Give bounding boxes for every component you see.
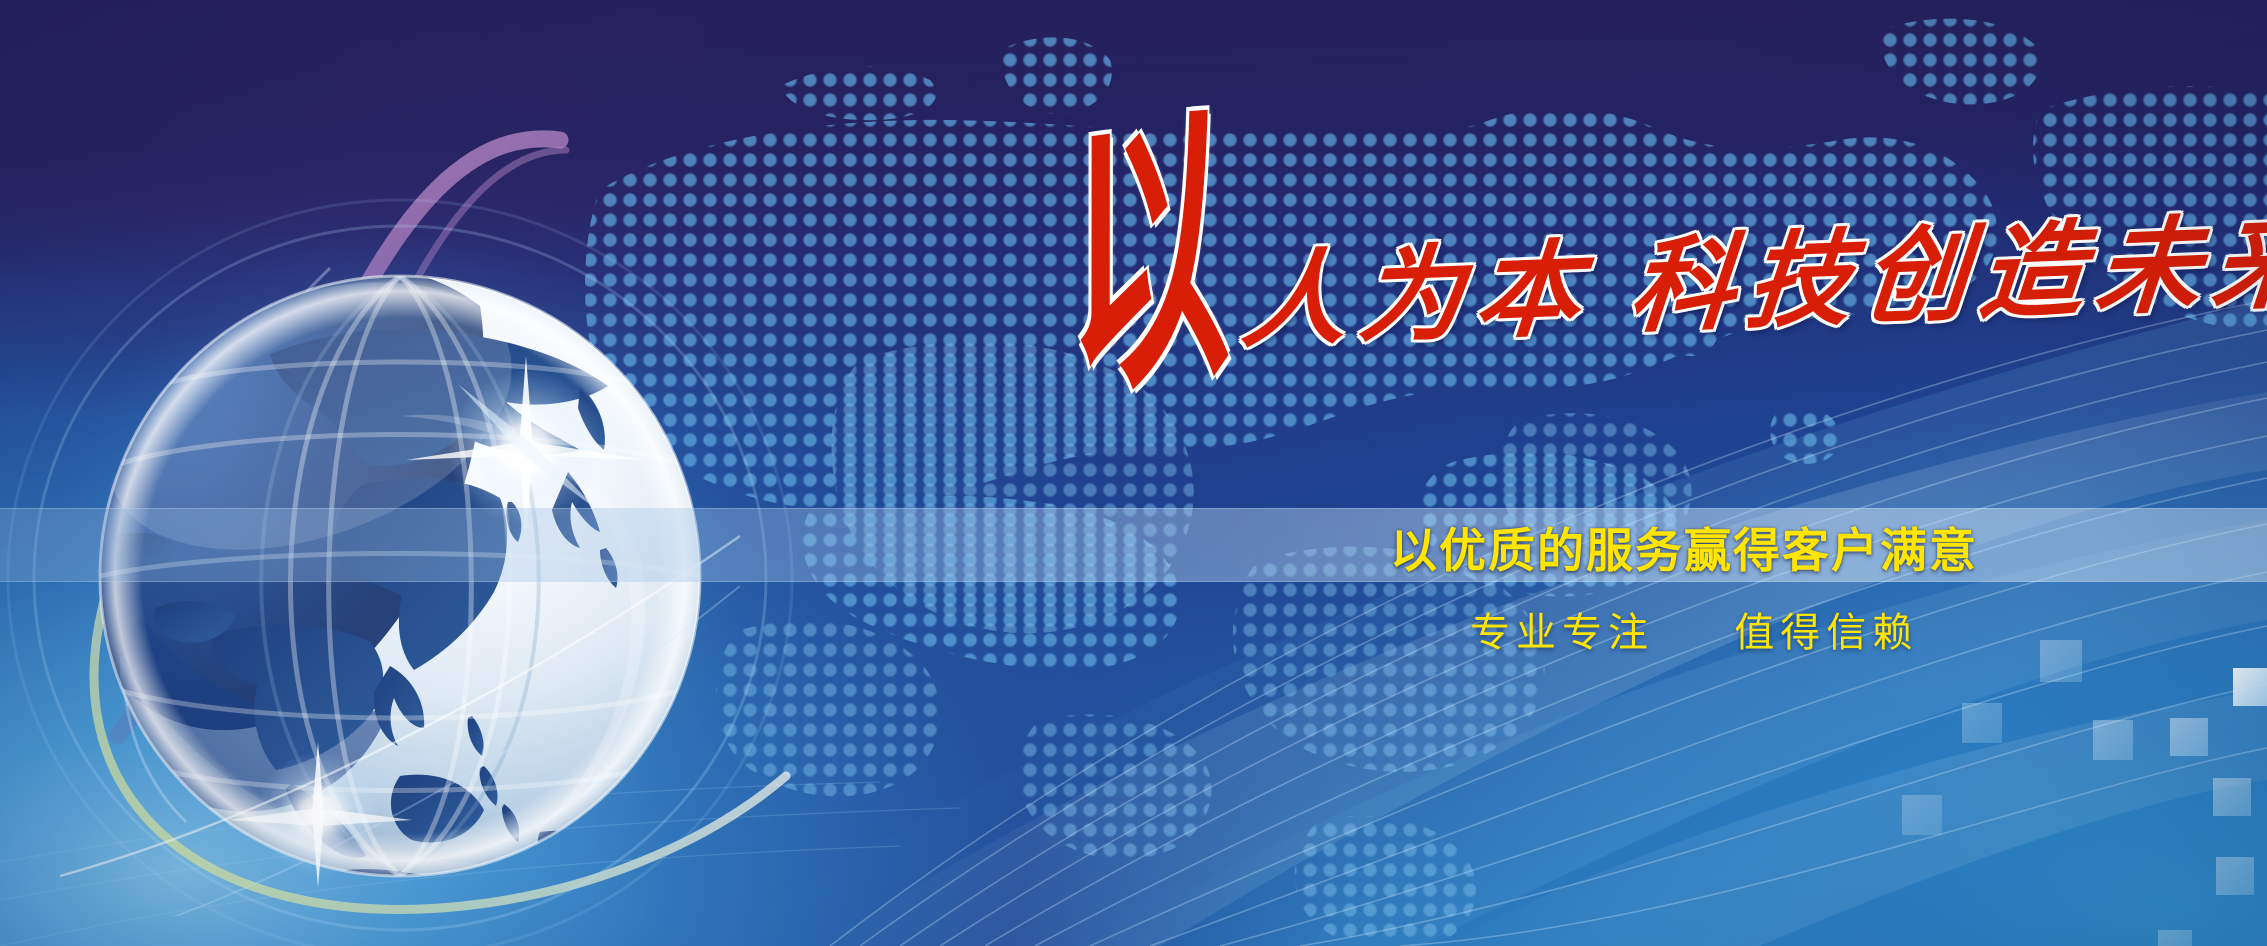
- vignette-overlay: [0, 0, 2267, 946]
- corporate-banner: 以 人为本 科技创造未来 以优质的服务赢得客户满意 专业专注 值得信赖: [0, 0, 2267, 946]
